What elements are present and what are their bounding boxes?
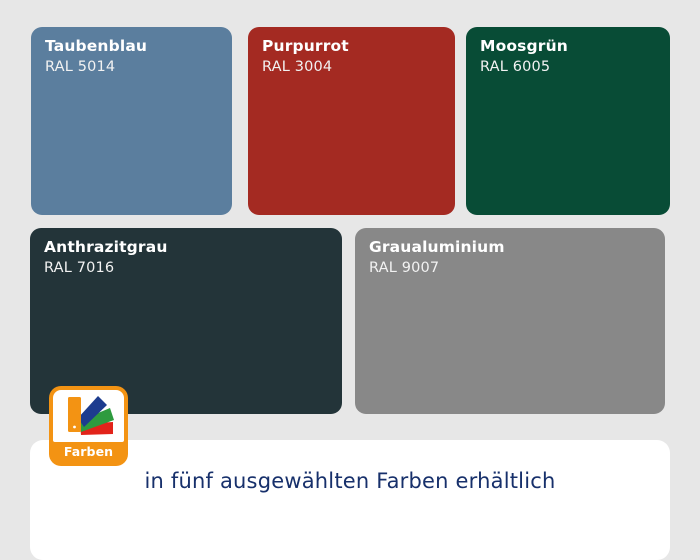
color-swatch-purpurrot[interactable]: Purpurrot RAL 3004 bbox=[248, 27, 455, 215]
color-swatch-moosgruen[interactable]: Moosgrün RAL 6005 bbox=[466, 27, 670, 215]
farben-badge-icon-area bbox=[53, 390, 124, 442]
color-swatch-taubenblau[interactable]: Taubenblau RAL 5014 bbox=[31, 27, 232, 215]
color-palette-board: Taubenblau RAL 5014 Purpurrot RAL 3004 M… bbox=[0, 0, 700, 525]
color-swatch-graualuminium[interactable]: Graualuminium RAL 9007 bbox=[355, 228, 665, 414]
swatch-label: Graualuminium RAL 9007 bbox=[369, 238, 505, 277]
swatch-code: RAL 5014 bbox=[45, 58, 147, 77]
swatch-name: Graualuminium bbox=[369, 238, 505, 258]
swatch-label: Purpurrot RAL 3004 bbox=[262, 37, 349, 76]
swatch-code: RAL 9007 bbox=[369, 259, 505, 278]
swatch-name: Moosgrün bbox=[480, 37, 568, 57]
swatch-code: RAL 3004 bbox=[262, 58, 349, 77]
swatch-label: Moosgrün RAL 6005 bbox=[480, 37, 568, 76]
farben-badge[interactable]: Farben bbox=[49, 386, 128, 466]
swatch-name: Purpurrot bbox=[262, 37, 349, 57]
swatch-label: Taubenblau RAL 5014 bbox=[45, 37, 147, 76]
color-fan-icon bbox=[60, 394, 118, 439]
swatch-name: Taubenblau bbox=[45, 37, 147, 57]
swatch-code: RAL 7016 bbox=[44, 259, 168, 278]
swatch-code: RAL 6005 bbox=[480, 58, 568, 77]
swatch-name: Anthrazitgrau bbox=[44, 238, 168, 258]
swatch-label: Anthrazitgrau RAL 7016 bbox=[44, 238, 168, 277]
farben-badge-label: Farben bbox=[53, 442, 124, 462]
